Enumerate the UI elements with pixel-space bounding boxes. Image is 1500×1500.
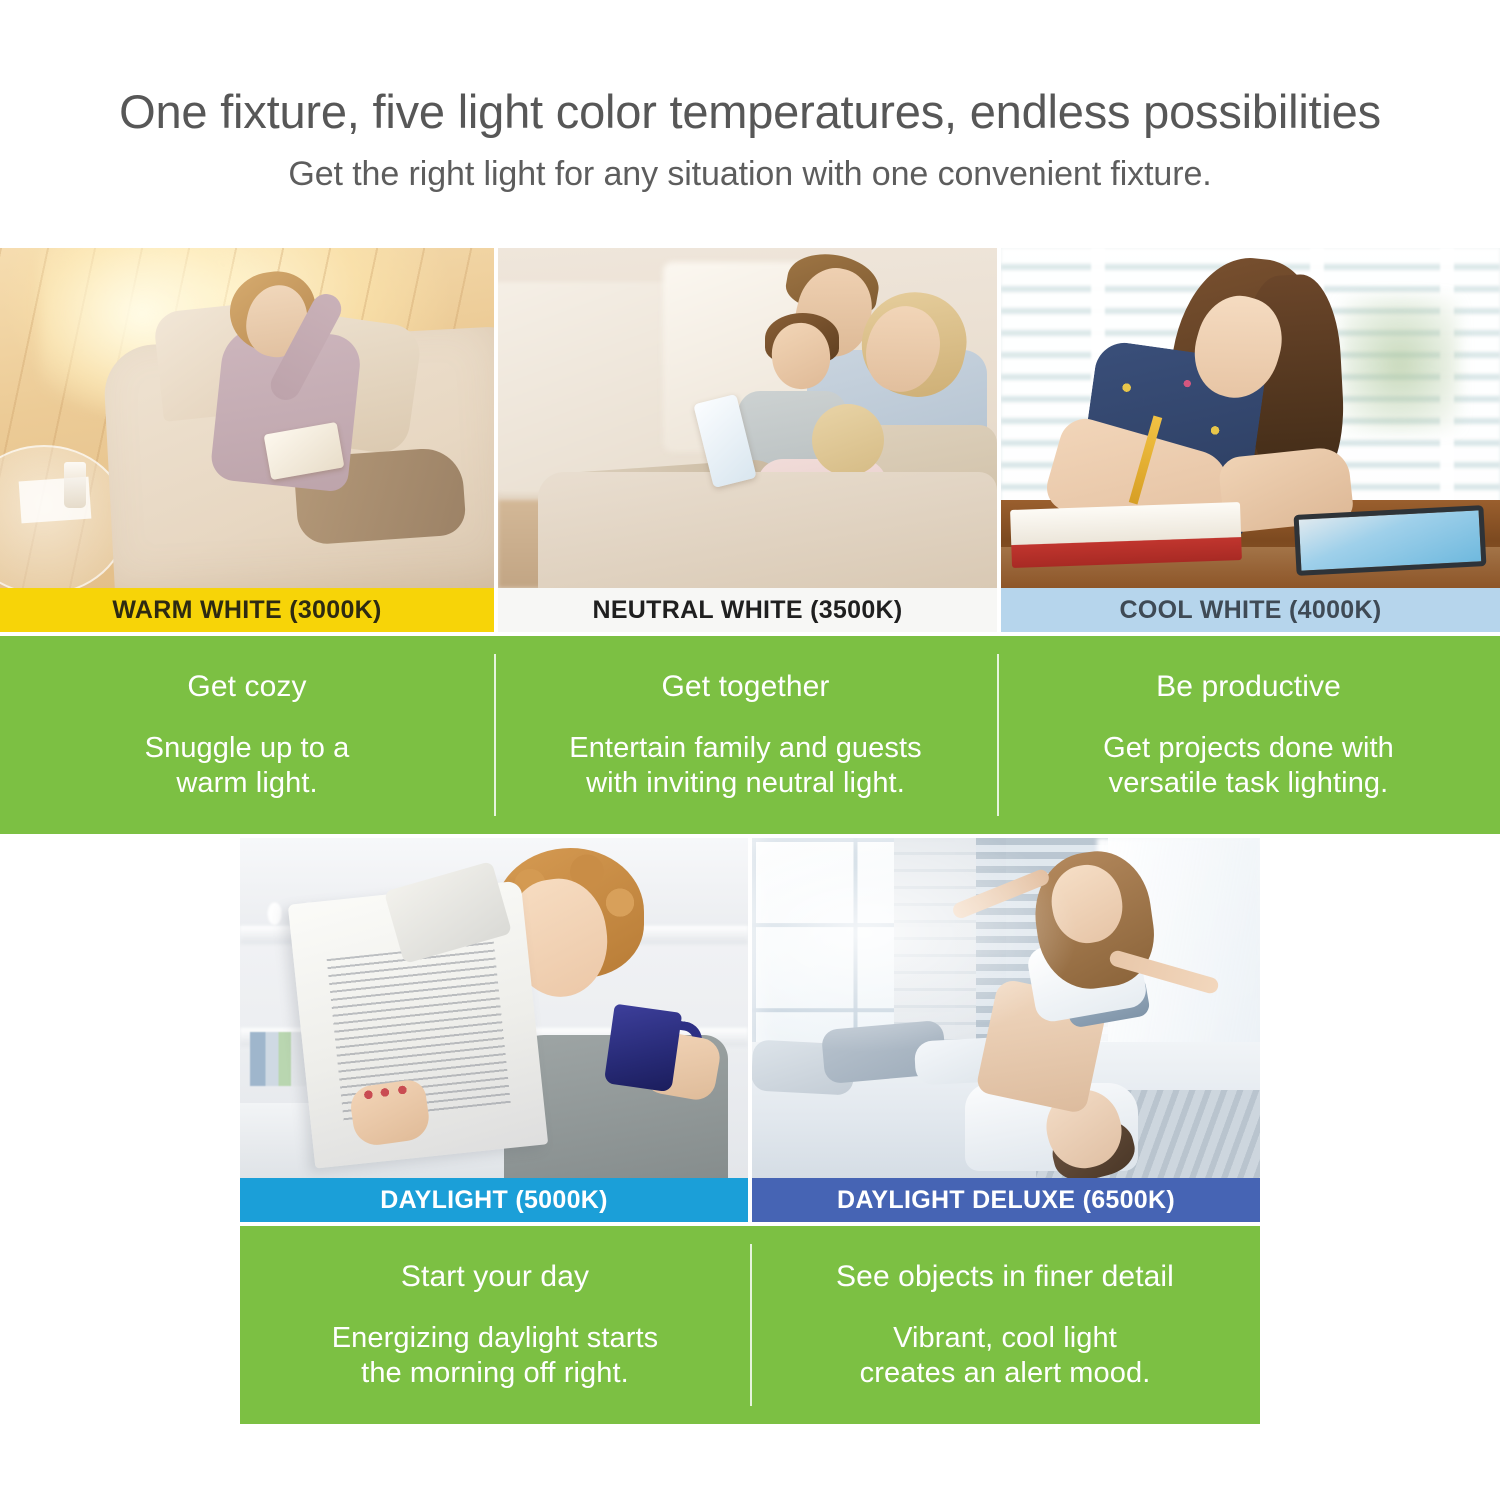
description-text: Entertain family and guests with invitin… — [569, 731, 922, 801]
page-subheadline: Get the right light for any situation wi… — [0, 155, 1500, 194]
card-daylight-deluxe: DAYLIGHT DELUXE (6500K) — [752, 838, 1260, 1222]
temp-label-warm-white: WARM WHITE (3000K) — [0, 588, 494, 632]
description-text: Energizing daylight starts the morning o… — [332, 1321, 659, 1391]
description-title: Start your day — [401, 1260, 589, 1293]
temp-label-daylight-deluxe: DAYLIGHT DELUXE (6500K) — [752, 1178, 1260, 1222]
header-block: One fixture, five light color temperatur… — [0, 0, 1500, 194]
card-neutral-white: NEUTRAL WHITE (3500K) — [498, 248, 997, 632]
description-text: Vibrant, cool light creates an alert moo… — [860, 1321, 1151, 1391]
blue-coffee-mug — [604, 1004, 682, 1093]
notebook — [1010, 502, 1241, 568]
card-daylight: DAYLIGHT (5000K) — [240, 838, 748, 1222]
photo-father-lifting-child — [752, 838, 1260, 1178]
top-photo-row: WARM WHITE (3000K) — [0, 248, 1500, 632]
photo-woman-relaxing-on-chaise — [0, 248, 494, 588]
description-cool-white: Be productive Get projects done with ver… — [997, 636, 1500, 834]
temp-label-daylight: DAYLIGHT (5000K) — [240, 1178, 748, 1222]
top-description-band: Get cozy Snuggle up to a warm light. Get… — [0, 636, 1500, 834]
description-title: Get cozy — [187, 670, 306, 703]
bottom-photo-row: DAYLIGHT (5000K) — [240, 838, 1260, 1222]
temp-label-cool-white: COOL WHITE (4000K) — [1001, 588, 1500, 632]
description-warm-white: Get cozy Snuggle up to a warm light. — [0, 636, 494, 834]
description-daylight: Start your day Energizing daylight start… — [240, 1226, 750, 1424]
description-title: Be productive — [1156, 670, 1341, 703]
bottom-description-band: Start your day Energizing daylight start… — [240, 1226, 1260, 1424]
description-title: See objects in finer detail — [836, 1260, 1174, 1293]
tablet-on-desk — [1294, 505, 1487, 576]
temp-label-neutral-white: NEUTRAL WHITE (3500K) — [498, 588, 997, 632]
page-headline: One fixture, five light color temperatur… — [0, 86, 1500, 139]
photo-girl-doing-homework — [1001, 248, 1500, 588]
description-text: Get projects done with versatile task li… — [1103, 731, 1394, 801]
description-text: Snuggle up to a warm light. — [145, 731, 350, 801]
card-cool-white: COOL WHITE (4000K) — [1001, 248, 1500, 632]
description-title: Get together — [662, 670, 830, 703]
photo-family-on-sofa — [498, 248, 997, 588]
sofa-front — [538, 472, 997, 588]
drinking-glass — [64, 462, 86, 508]
description-daylight-deluxe: See objects in finer detail Vibrant, coo… — [750, 1226, 1260, 1424]
photo-woman-reading-newspaper — [240, 838, 748, 1178]
infographic-page: One fixture, five light color temperatur… — [0, 0, 1500, 1500]
description-neutral-white: Get together Entertain family and guests… — [494, 636, 997, 834]
outdoor-greenery — [1340, 296, 1460, 432]
card-warm-white: WARM WHITE (3000K) — [0, 248, 494, 632]
